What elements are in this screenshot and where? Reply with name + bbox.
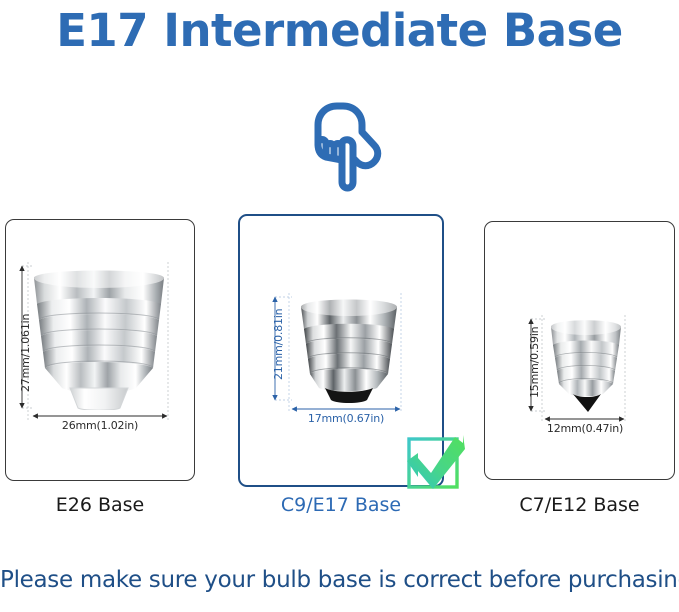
base-caption-e26: E26 Base [5,494,195,516]
bulb-screw-base-e17-icon [293,293,405,405]
base-caption-e12: C7/E12 Base [484,494,675,516]
footer-note: Please make sure your bulb base is corre… [0,567,679,593]
base-caption-e17: C9/E17 Base [238,494,444,516]
dimension-height-e17: 21mm/0.81in [272,309,285,380]
dimension-height-e26: 27mm/1.061in [19,314,32,392]
dimension-width-e17: 17mm(0.67in) [292,412,400,425]
bulb-screw-base-e26-icon [28,262,170,410]
page-title: E17 Intermediate Base [0,4,679,58]
dimension-width-e12: 12mm(0.47in) [545,422,625,435]
green-checkmark-icon [405,433,467,493]
dimension-width-e26: 26mm(1.02in) [35,419,165,432]
pointing-hand-down-icon [296,92,384,198]
bulb-screw-base-e12-icon [543,315,629,415]
dimension-height-e12: 15mm/0.59in [528,327,541,398]
